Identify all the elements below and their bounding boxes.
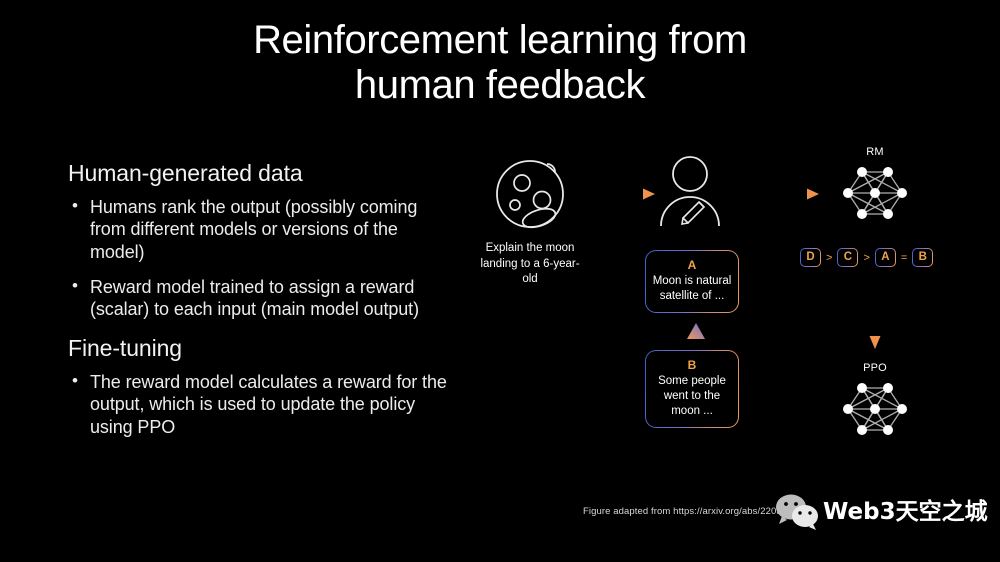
rank-box-a: A bbox=[875, 248, 896, 267]
wechat-logo-icon bbox=[775, 493, 819, 531]
person-with-pencil-icon bbox=[653, 152, 727, 228]
neural-network-icon bbox=[840, 378, 910, 440]
figure-credit: Figure adapted from https://arxiv.org/ab… bbox=[583, 506, 803, 517]
rank-box-d: D bbox=[800, 248, 821, 267]
list-item: Humans rank the output (possibly coming … bbox=[68, 196, 448, 264]
neural-network-icon bbox=[840, 162, 910, 224]
rlhf-diagram: Explain the moon landing to a 6-year-old bbox=[455, 140, 1000, 480]
title-line-1: Reinforcement learning from bbox=[253, 18, 747, 62]
watermark: Web3天空之城 bbox=[775, 493, 988, 531]
rank-operator: = bbox=[901, 252, 907, 264]
policy-model-label: PPO bbox=[820, 362, 930, 374]
slide-root: Reinforcement learning from human feedba… bbox=[0, 0, 1000, 562]
card-letter: A bbox=[652, 257, 732, 274]
response-card-b[interactable]: B Some people went to the moon ... bbox=[645, 350, 739, 428]
reward-model-label: RM bbox=[820, 146, 930, 158]
reward-model-block: RM bbox=[820, 146, 930, 224]
rank-box-b: B bbox=[912, 248, 933, 267]
list-item: Reward model trained to assign a reward … bbox=[68, 276, 448, 321]
card-letter: B bbox=[652, 357, 732, 374]
list-item: The reward model calculates a reward for… bbox=[68, 371, 448, 439]
ranking-row: D > C > A = B bbox=[800, 248, 933, 267]
section-heading-fine-tuning: Fine-tuning bbox=[68, 335, 448, 363]
rank-box-c: C bbox=[837, 248, 858, 267]
prompt-block: Explain the moon landing to a 6-year-old bbox=[475, 155, 585, 288]
left-text-column: Human-generated data Humans rank the out… bbox=[68, 160, 448, 451]
triangle-up-icon bbox=[687, 323, 705, 339]
annotator-block bbox=[640, 152, 740, 228]
title-line-2: human feedback bbox=[0, 63, 1000, 108]
section-heading-human-generated-data: Human-generated data bbox=[68, 160, 448, 188]
policy-model-block: PPO bbox=[820, 362, 930, 440]
response-card-a[interactable]: A Moon is natural satellite of ... bbox=[645, 250, 739, 313]
moon-icon bbox=[491, 155, 569, 233]
rank-operator: > bbox=[863, 252, 869, 264]
prompt-caption: Explain the moon landing to a 6-year-old bbox=[475, 241, 585, 288]
page-title: Reinforcement learning from human feedba… bbox=[0, 18, 1000, 108]
rank-operator: > bbox=[826, 252, 832, 264]
bullet-list-fine-tuning: The reward model calculates a reward for… bbox=[68, 371, 448, 439]
watermark-text: Web3天空之城 bbox=[823, 501, 988, 524]
card-text: Some people went to the moon ... bbox=[652, 374, 732, 419]
bullet-list-human-generated-data: Humans rank the output (possibly coming … bbox=[68, 196, 448, 321]
arrow-person-to-rm-icon bbox=[752, 188, 820, 200]
arrow-rm-to-ppo-icon bbox=[869, 280, 881, 350]
card-text: Moon is natural satellite of ... bbox=[652, 274, 732, 304]
